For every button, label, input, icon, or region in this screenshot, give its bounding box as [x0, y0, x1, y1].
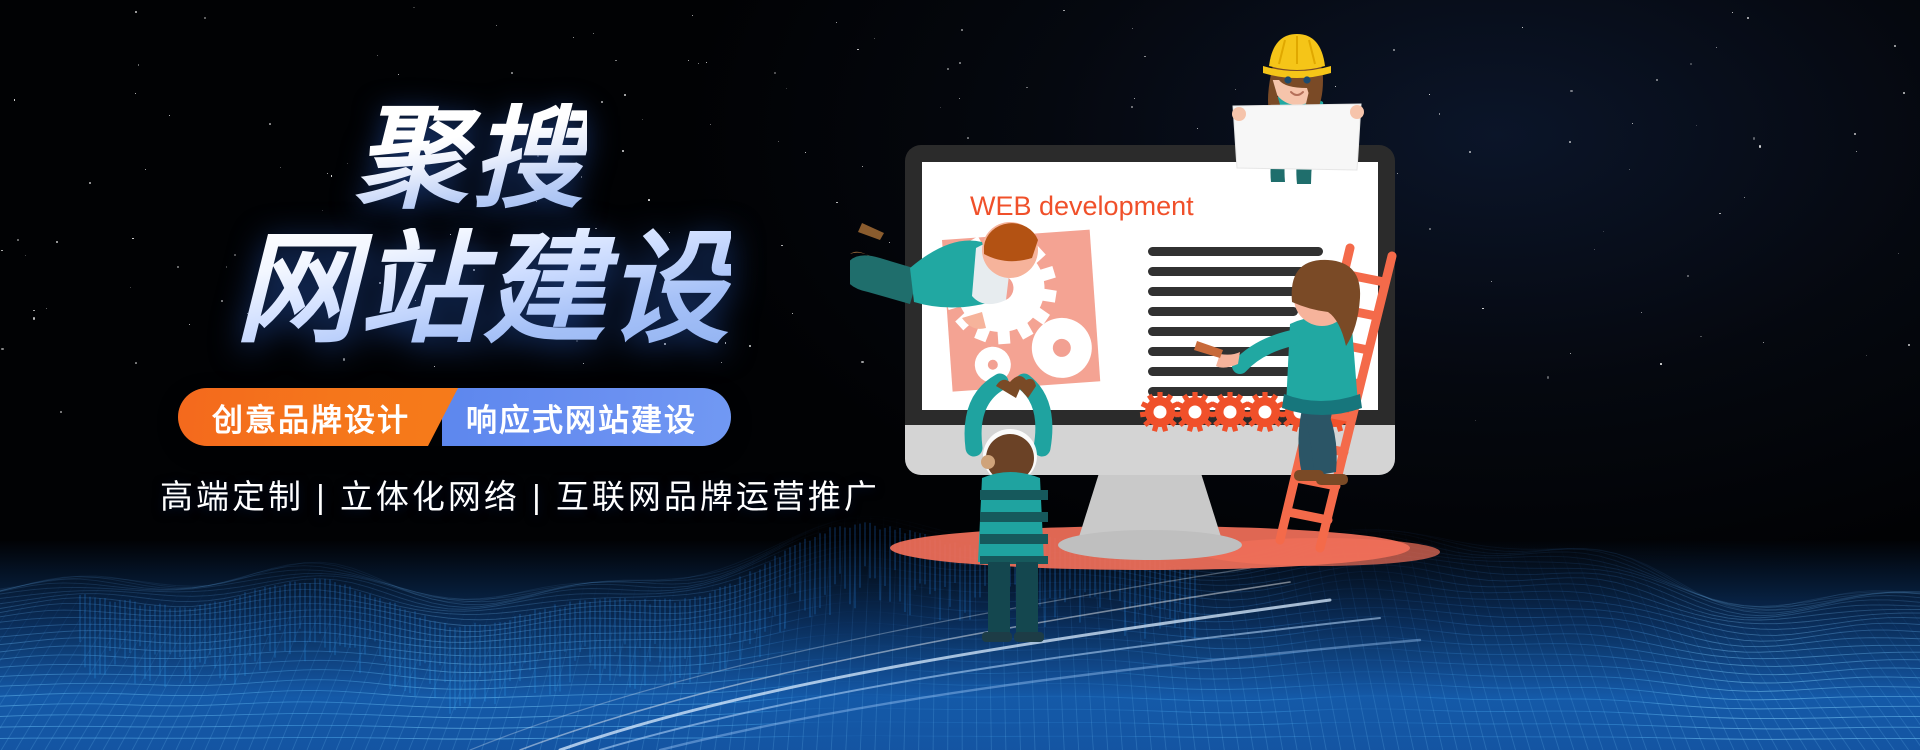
hero-banner: 聚搜 网站建设 创意品牌设计 响应式网站建设 高端定制 | 立体化网络 | 互联…	[0, 0, 1920, 750]
badge-group: 创意品牌设计 响应式网站建设	[178, 388, 731, 446]
brand-title: 聚搜	[355, 103, 587, 215]
character-architect	[1232, 34, 1364, 184]
badge-responsive-build[interactable]: 响应式网站建设	[442, 388, 731, 446]
tagline: 高端定制 | 立体化网络 | 互联网品牌运营推广	[160, 470, 880, 518]
text-line	[1148, 247, 1323, 256]
page-headline: 网站建设	[235, 228, 731, 350]
illustration-monitor-scene: WEB development	[850, 0, 1920, 750]
copy-block: 聚搜 网站建设 创意品牌设计 响应式网站建设 高端定制 | 立体化网络 | 互联…	[0, 0, 880, 750]
blueprint-sheet	[1233, 104, 1361, 170]
monitor-neck	[1078, 470, 1222, 540]
monitor-base	[1058, 530, 1242, 560]
screen-heading: WEB development	[970, 191, 1194, 221]
badge-creative-design[interactable]: 创意品牌设计	[178, 388, 458, 446]
text-line	[1148, 307, 1298, 316]
paint-brush	[858, 223, 884, 240]
monitor-illustration: WEB development	[850, 0, 1920, 750]
